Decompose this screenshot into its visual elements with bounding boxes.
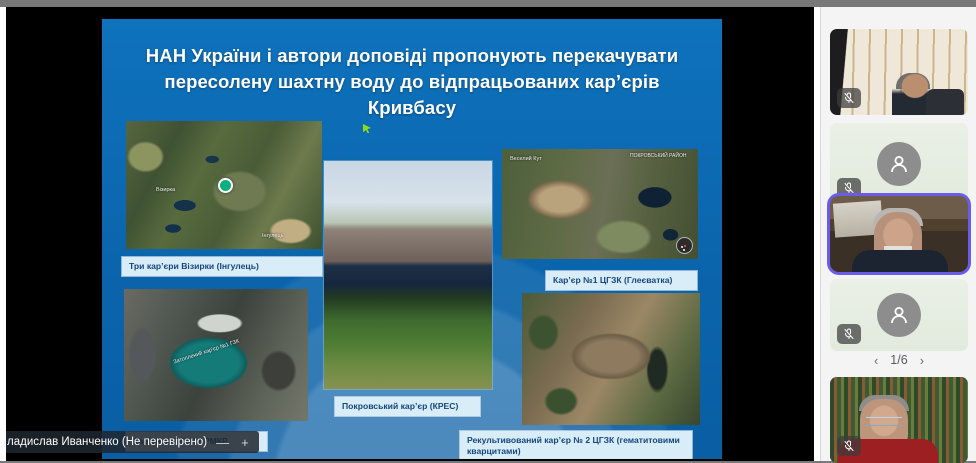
mic-muted-icon [837,88,861,108]
image-satellite-vizyrka-quarries: Візирка Інгулець [126,121,322,249]
zoom-in-button[interactable]: + [238,436,252,449]
participant-tile-2[interactable] [830,123,968,205]
presenter-name-pill: ладислав Иванченко (Не перевірено) — + [6,431,259,453]
page-indicator: 1/6 [890,353,907,367]
image-satellite-reclaimed-czgk-quarry-2 [522,293,700,425]
map-label-pokrovskyi-raion: ПОКРОВСЬКИЙ РАЙОН [630,153,687,159]
participant-tile-3-active-speaker[interactable] [830,196,968,272]
shared-screen-letterbox: НАН України і автори доповіді пропонують… [6,7,814,461]
prev-page-button[interactable]: ‹ [874,353,878,368]
zoom-out-button[interactable]: — [213,436,232,449]
next-page-button[interactable]: › [920,353,924,368]
avatar-icon [877,142,921,186]
mic-muted-icon [837,178,861,198]
caption-top-right: Кар’єр №1 ЦГЗК (Глеєватка) [546,271,697,290]
participant-video-3 [830,196,968,272]
participant-tile-5[interactable] [830,377,968,463]
participants-pagination: ‹ 1/6 › [830,348,968,372]
mic-muted-icon [837,436,861,456]
map-label-veselyi-kut: Веселий Кут [510,156,542,162]
image-satellite-armkr-quarry-1: Затоплений кар’єр №1 ГЗК [124,289,308,421]
presentation-slide: НАН України і автори доповіді пропонують… [102,19,722,459]
meeting-window: НАН України і автори доповіді пропонують… [0,0,976,461]
participant-tile-1[interactable] [830,29,968,115]
map-label-vizyrka: Візирка [156,187,175,193]
participant-tile-4[interactable] [830,279,968,351]
window-chrome-strip [0,0,976,7]
map-label-inhulets: Інгулець [262,233,283,239]
caption-center-bottom: Покровський кар’єр (КРЕС) [335,397,480,416]
map-pin-icon [218,178,233,193]
slide-title: НАН України і автори доповіді пропонують… [124,43,700,121]
caption-top-left: Три кар’єри Візирки (Інгулець) [122,257,322,276]
map-label-flooded-quarry: Затоплений кар’єр №1 ГЗК [173,339,240,366]
image-photo-pokrovsky-quarry [324,161,492,389]
avatar-icon [877,293,921,337]
mic-muted-icon [837,324,861,344]
caption-bottom-right: Рекультивований кар’єр № 2 ЦГЗК (гематит… [460,431,692,459]
map-compass-badge-icon [676,237,693,254]
image-satellite-czgk-quarry-1: Веселий Кут ПОКРОВСЬКИЙ РАЙОН [502,149,698,259]
presenter-name: ладислав Иванченко (Не перевірено) [7,436,207,448]
screen-share-stage[interactable]: НАН України і автори доповіді пропонують… [0,7,820,461]
participants-rail: ‹ 1/6 › [820,7,976,461]
